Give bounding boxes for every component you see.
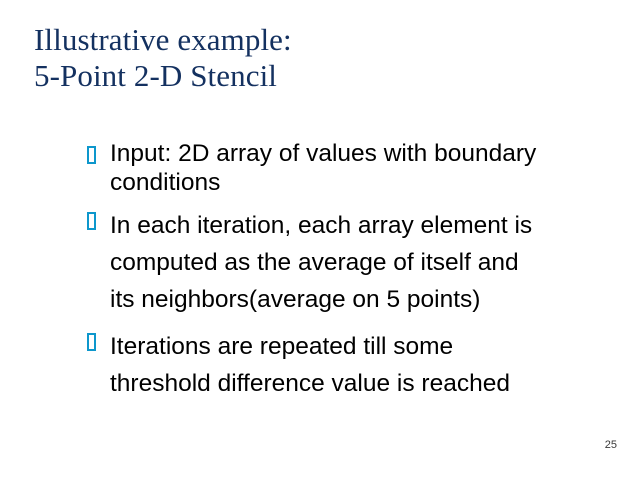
bullet-item-1-line-1: Input: 2D array of values with boundary: [110, 139, 630, 168]
bullet-item-2-line-1: In each iteration, each array element is: [110, 207, 630, 244]
bullet-item-1: Input: 2D array of values with boundary …: [82, 139, 630, 197]
bullet-item-3-text: Iterations are repeated till some thresh…: [110, 328, 630, 402]
slide-title: Illustrative example: 5-Point 2-D Stenci…: [34, 22, 604, 94]
slide-body: Input: 2D array of values with boundary …: [82, 139, 630, 402]
bullet-item-2-line-2: computed as the average of itself and: [110, 244, 630, 281]
bullet-item-3-line-1: Iterations are repeated till some: [110, 328, 630, 365]
bullet-item-3-line-2: threshold difference value is reached: [110, 365, 630, 402]
slide: Illustrative example: 5-Point 2-D Stenci…: [0, 0, 640, 480]
bullet-item-1-text: Input: 2D array of values with boundary …: [110, 139, 630, 197]
slide-title-line-1: Illustrative example:: [34, 22, 604, 58]
hollow-rectangle-bullet-icon: [87, 146, 96, 164]
hollow-rectangle-bullet-icon: [87, 333, 96, 351]
bullet-item-2: In each iteration, each array element is…: [82, 205, 630, 318]
bullet-item-2-text: In each iteration, each array element is…: [110, 207, 630, 318]
slide-title-line-2: 5-Point 2-D Stencil: [34, 58, 604, 94]
bullet-item-3: Iterations are repeated till some thresh…: [82, 326, 630, 402]
hollow-rectangle-bullet-icon: [87, 212, 96, 230]
bullet-item-2-line-3: its neighbors(average on 5 points): [110, 281, 630, 318]
page-number: 25: [605, 439, 617, 451]
bullet-item-1-line-2: conditions: [110, 168, 630, 197]
